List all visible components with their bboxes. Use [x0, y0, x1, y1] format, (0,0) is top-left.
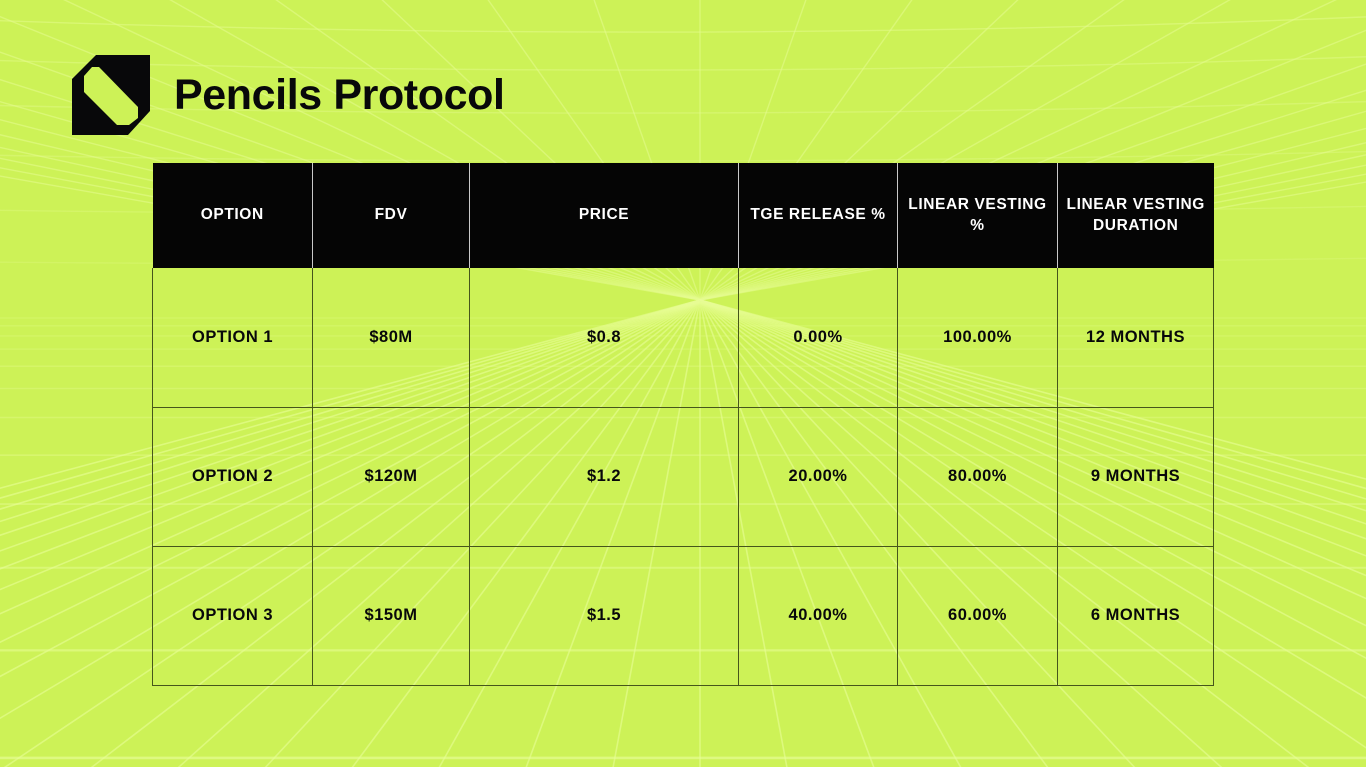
cell-option: OPTION 3 — [153, 546, 313, 685]
table-header: OPTION FDV PRICE TGE RELEASE % LINEAR VE… — [153, 163, 1214, 268]
cell-fdv: $150M — [313, 546, 470, 685]
column-header-tge-release: TGE RELEASE % — [739, 163, 898, 268]
cell-price: $1.5 — [470, 546, 739, 685]
column-header-linear-vesting: LINEAR VESTING % — [898, 163, 1058, 268]
token-sale-options-table: OPTION FDV PRICE TGE RELEASE % LINEAR VE… — [152, 163, 1214, 686]
cell-price: $0.8 — [470, 268, 739, 407]
cell-fdv: $120M — [313, 407, 470, 546]
table-body: OPTION 1 $80M $0.8 0.00% 100.00% 12 MONT… — [153, 268, 1214, 685]
cell-linear-vesting: 100.00% — [898, 268, 1058, 407]
cell-fdv: $80M — [313, 268, 470, 407]
table-container: OPTION FDV PRICE TGE RELEASE % LINEAR VE… — [152, 163, 1213, 686]
page-title: Pencils Protocol — [174, 74, 505, 117]
cell-option: OPTION 1 — [153, 268, 313, 407]
cell-tge-release: 40.00% — [739, 546, 898, 685]
cell-vesting-duration: 9 MONTHS — [1058, 407, 1214, 546]
column-header-price: PRICE — [470, 163, 739, 268]
column-header-option: OPTION — [153, 163, 313, 268]
table-row: OPTION 3 $150M $1.5 40.00% 60.00% 6 MONT… — [153, 546, 1214, 685]
cell-tge-release: 0.00% — [739, 268, 898, 407]
cell-tge-release: 20.00% — [739, 407, 898, 546]
cell-linear-vesting: 80.00% — [898, 407, 1058, 546]
cell-linear-vesting: 60.00% — [898, 546, 1058, 685]
column-header-fdv: FDV — [313, 163, 470, 268]
table-header-row: OPTION FDV PRICE TGE RELEASE % LINEAR VE… — [153, 163, 1214, 268]
cell-vesting-duration: 12 MONTHS — [1058, 268, 1214, 407]
brand-header: Pencils Protocol — [72, 55, 505, 135]
cell-vesting-duration: 6 MONTHS — [1058, 546, 1214, 685]
cell-option: OPTION 2 — [153, 407, 313, 546]
cell-price: $1.2 — [470, 407, 739, 546]
column-header-vesting-duration: LINEAR VESTING DURATION — [1058, 163, 1214, 268]
table-row: OPTION 1 $80M $0.8 0.00% 100.00% 12 MONT… — [153, 268, 1214, 407]
table-row: OPTION 2 $120M $1.2 20.00% 80.00% 9 MONT… — [153, 407, 1214, 546]
pencils-protocol-logo-icon — [72, 55, 150, 135]
